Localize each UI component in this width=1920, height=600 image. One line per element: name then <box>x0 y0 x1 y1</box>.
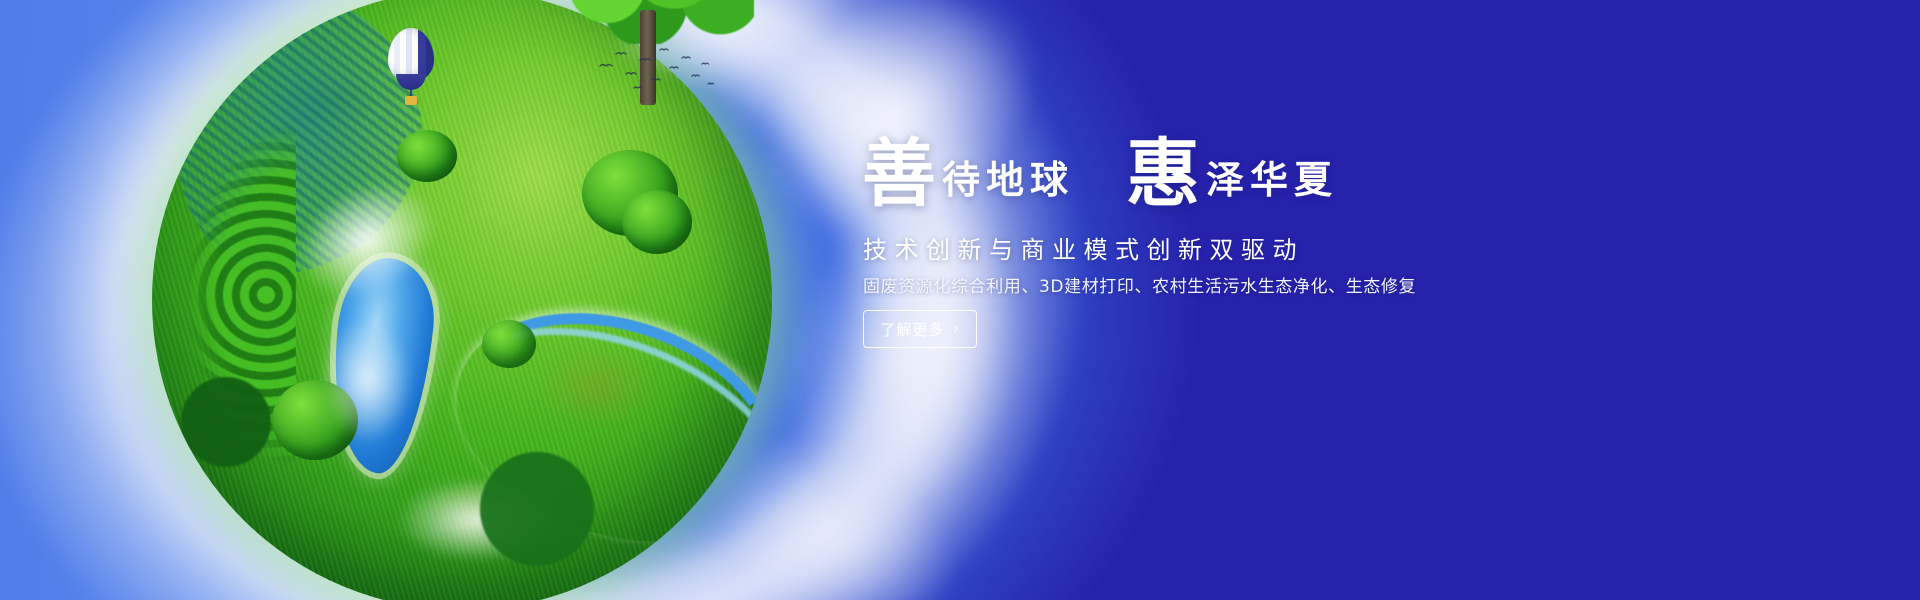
hero-banner: 善 待地球 惠 泽华夏 技术创新与商业模式创新双驱动 固废资源化综合利用、3D建… <box>0 0 1920 600</box>
headline-secondary-1: 待地球 <box>942 161 1074 208</box>
chevron-right-icon: › <box>953 322 960 336</box>
headline-primary-1: 善 <box>862 140 936 208</box>
learn-more-label: 了解更多 <box>880 319 944 340</box>
banner-subtitle: 技术创新与商业模式创新双驱动 <box>863 230 1304 265</box>
headline-primary-2: 惠 <box>1126 140 1200 208</box>
headline: 善 待地球 惠 泽华夏 <box>862 140 1338 208</box>
banner-description: 固废资源化综合利用、3D建材打印、农村生活污水生态净化、生态修复 <box>863 272 1416 297</box>
learn-more-button[interactable]: 了解更多 › <box>863 310 977 348</box>
banner-content: 善 待地球 惠 泽华夏 技术创新与商业模式创新双驱动 固废资源化综合利用、3D建… <box>0 0 1920 600</box>
headline-secondary-2: 泽华夏 <box>1206 161 1338 208</box>
